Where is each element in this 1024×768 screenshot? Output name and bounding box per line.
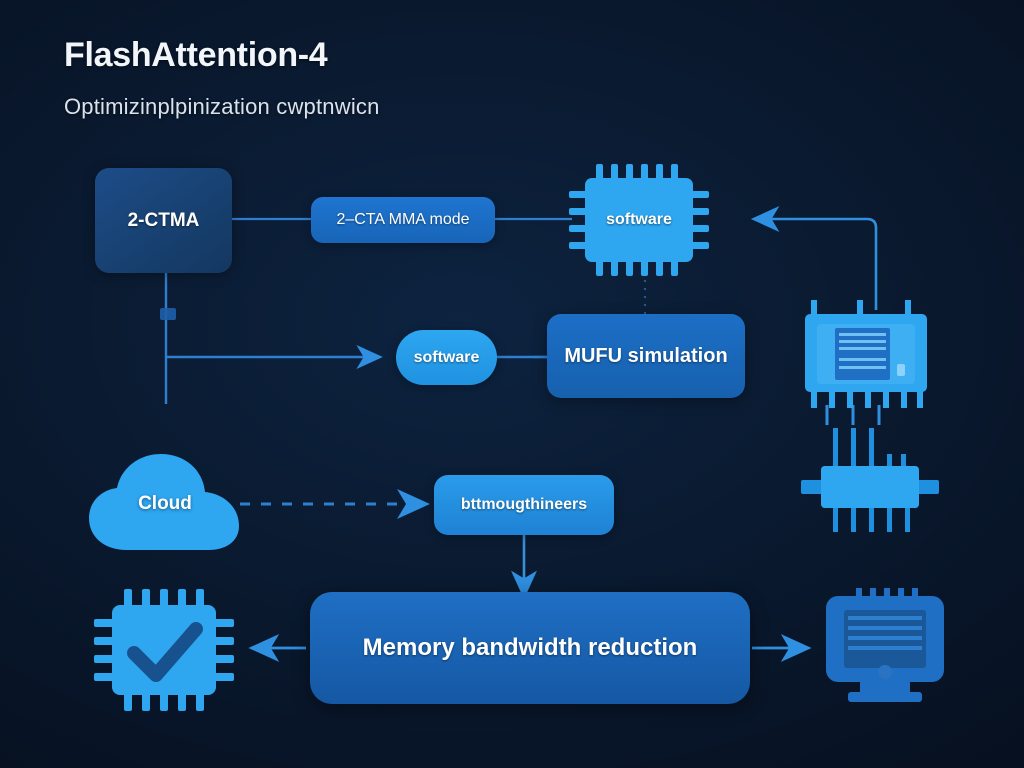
wire-processor-to-software: [756, 219, 876, 310]
chip-pins-icon: [797, 428, 943, 536]
node-cloud-label: Cloud: [138, 493, 192, 515]
node-check-chip[interactable]: [88, 585, 240, 713]
node-software-chip[interactable]: software: [563, 160, 715, 280]
node-cloud[interactable]: Cloud: [85, 450, 245, 558]
node-2-ctma[interactable]: 2-CTMA: [95, 168, 232, 273]
node-memory-bandwidth[interactable]: Memory bandwidth reduction: [310, 592, 750, 704]
diagram-canvas: FlashAttention-4 Optimizinplpinization c…: [0, 0, 1024, 768]
cpu-check-icon: [88, 585, 240, 713]
node-software-chip-label: software: [606, 211, 672, 229]
node-cta-mma-mode[interactable]: 2–CTA MMA mode: [311, 197, 495, 243]
page-subtitle: Optimizinplpinization cwptnwicn: [64, 94, 380, 120]
node-monitor[interactable]: [812, 588, 958, 708]
node-memory-bandwidth-label: Memory bandwidth reduction: [349, 634, 712, 662]
node-software-pill-label: software: [400, 349, 494, 367]
node-processor[interactable]: [797, 300, 935, 412]
processor-document-icon: [797, 300, 935, 412]
node-mufu-simulation-label: MUFU simulation: [550, 345, 741, 368]
node-software-pill[interactable]: software: [396, 330, 497, 385]
node-2-ctma-label: 2-CTMA: [114, 210, 214, 232]
node-cta-mma-mode-label: 2–CTA MMA mode: [322, 211, 483, 229]
node-chip-small[interactable]: [797, 428, 943, 536]
node-engineers[interactable]: bttmougthineers: [434, 475, 614, 535]
server-monitor-icon: [812, 588, 958, 708]
node-mufu-simulation[interactable]: MUFU simulation: [547, 314, 745, 398]
wire-junction-marker: [160, 308, 176, 320]
page-title: FlashAttention-4: [64, 36, 327, 75]
node-engineers-label: bttmougthineers: [447, 496, 601, 514]
